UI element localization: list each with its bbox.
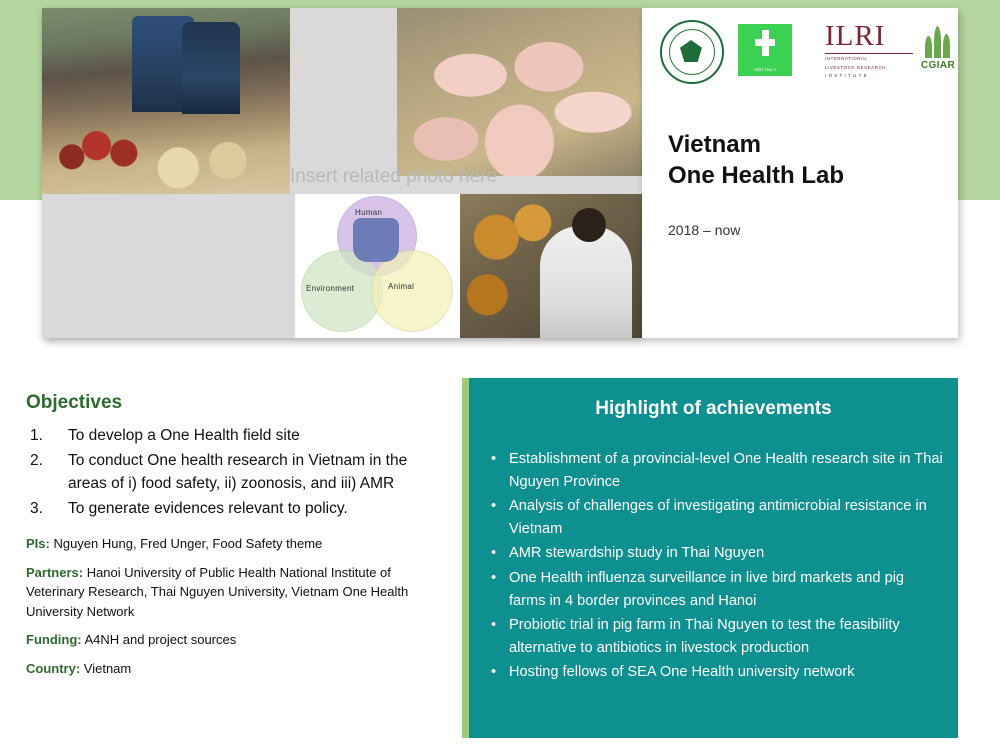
meta-value-country: Vietnam bbox=[80, 661, 131, 676]
achievement-text: Probiotic trial in pig farm in Thai Nguy… bbox=[509, 617, 900, 656]
objectives-heading: Objectives bbox=[26, 392, 446, 414]
objective-number: 3. bbox=[30, 497, 43, 521]
cgiar-label: CGIAR bbox=[918, 60, 958, 71]
venn-label-human: Human bbox=[355, 208, 382, 217]
achievement-text: Hosting fellows of SEA One Health univer… bbox=[509, 664, 855, 680]
venn-circle-animal bbox=[371, 250, 453, 332]
list-item: 1. To develop a One Health field site bbox=[26, 424, 446, 448]
meta-funding: Funding: A4NH and project sources bbox=[26, 630, 446, 650]
green-cross-label: VIỆN THÚ Y bbox=[738, 67, 792, 72]
header-image-card: Insert related photo here Human Environm… bbox=[42, 8, 642, 338]
list-item: • One Health influenza surveillance in l… bbox=[489, 567, 944, 612]
ilri-logo: ILRI INTERNATIONAL LIVESTOCK RESEARCH I … bbox=[825, 22, 913, 80]
placeholder-caption: Insert related photo here bbox=[290, 166, 590, 188]
bullet-icon: • bbox=[491, 661, 496, 684]
list-item: • Establishment of a provincial-level On… bbox=[489, 448, 944, 493]
list-item: • AMR stewardship study in Thai Nguyen bbox=[489, 542, 944, 565]
market-photo bbox=[42, 8, 290, 194]
one-health-venn-diagram: Human Environment Animal bbox=[295, 194, 460, 338]
nihe-logo bbox=[660, 20, 724, 84]
list-item: • Probiotic trial in pig farm in Thai Ng… bbox=[489, 614, 944, 659]
meta-value-pis: Nguyen Hung, Fred Unger, Food Safety the… bbox=[50, 536, 322, 551]
bullet-icon: • bbox=[491, 567, 496, 590]
list-item: 3. To generate evidences relevant to pol… bbox=[26, 497, 446, 521]
bullet-icon: • bbox=[491, 542, 496, 565]
project-period: 2018 – now bbox=[668, 222, 740, 238]
achievements-list: • Establishment of a provincial-level On… bbox=[469, 448, 958, 684]
meta-value-funding: A4NH and project sources bbox=[82, 632, 237, 647]
cgiar-leaf-icon bbox=[925, 24, 951, 58]
achievement-text: One Health influenza surveillance in liv… bbox=[509, 570, 904, 609]
achievement-text: AMR stewardship study in Thai Nguyen bbox=[509, 545, 764, 561]
ilri-sub1: INTERNATIONAL bbox=[825, 56, 913, 63]
objective-text: To conduct One health research in Vietna… bbox=[68, 452, 407, 493]
title-line-1: Vietnam bbox=[668, 130, 844, 161]
achievement-text: Establishment of a provincial-level One … bbox=[509, 451, 943, 490]
objective-text: To generate evidences relevant to policy… bbox=[68, 500, 348, 517]
bullet-icon: • bbox=[491, 495, 496, 518]
green-cross-logo: VIỆN THÚ Y bbox=[738, 24, 792, 76]
project-metadata: PIs: Nguyen Hung, Fred Unger, Food Safet… bbox=[26, 534, 446, 678]
achievements-panel: Highlight of achievements • Establishmen… bbox=[469, 378, 958, 738]
logo-row: VIỆN THÚ Y ILRI INTERNATIONAL LIVESTOCK … bbox=[660, 20, 950, 86]
cgiar-logo: CGIAR bbox=[918, 24, 958, 80]
title-line-2: One Health Lab bbox=[668, 161, 844, 192]
ilri-wordmark: ILRI bbox=[825, 22, 913, 51]
meta-label-country: Country: bbox=[26, 661, 80, 676]
header-title-panel: VIỆN THÚ Y ILRI INTERNATIONAL LIVESTOCK … bbox=[642, 8, 958, 338]
meta-country: Country: Vietnam bbox=[26, 659, 446, 679]
objective-text: To develop a One Health field site bbox=[68, 427, 300, 444]
meta-label-pis: PIs: bbox=[26, 536, 50, 551]
worker-figure bbox=[572, 208, 606, 242]
meta-label-partners: Partners: bbox=[26, 565, 83, 580]
page-title: Vietnam One Health Lab bbox=[668, 130, 844, 191]
bullet-icon: • bbox=[491, 448, 496, 471]
meta-value-partners: Hanoi University of Public Health Nation… bbox=[26, 565, 408, 619]
list-item: • Hosting fellows of SEA One Health univ… bbox=[489, 661, 944, 684]
handprint-graphic bbox=[353, 218, 399, 262]
objective-number: 2. bbox=[30, 449, 43, 473]
bullet-icon: • bbox=[491, 614, 496, 637]
achievement-text: Analysis of challenges of investigating … bbox=[509, 498, 927, 537]
venn-label-environment: Environment bbox=[306, 284, 354, 293]
achievements-heading: Highlight of achievements bbox=[469, 378, 958, 420]
meta-label-funding: Funding: bbox=[26, 632, 82, 647]
list-item: • Analysis of challenges of investigatin… bbox=[489, 495, 944, 540]
objective-number: 1. bbox=[30, 424, 43, 448]
venn-label-animal: Animal bbox=[388, 282, 414, 291]
objectives-list: 1. To develop a One Health field site 2.… bbox=[26, 424, 446, 520]
ilri-sub2: LIVESTOCK RESEARCH bbox=[825, 65, 913, 72]
meta-partners: Partners: Hanoi University of Public Hea… bbox=[26, 563, 446, 622]
meta-pis: PIs: Nguyen Hung, Fred Unger, Food Safet… bbox=[26, 534, 446, 554]
poultry-farm-photo bbox=[460, 194, 642, 338]
pigs-photo bbox=[397, 8, 642, 176]
ilri-sub3: I N S T I T U T E bbox=[825, 73, 913, 80]
cross-icon bbox=[755, 30, 775, 56]
objectives-section: Objectives 1. To develop a One Health fi… bbox=[26, 392, 446, 687]
achievements-accent-bar bbox=[462, 378, 469, 738]
list-item: 2. To conduct One health research in Vie… bbox=[26, 449, 446, 496]
